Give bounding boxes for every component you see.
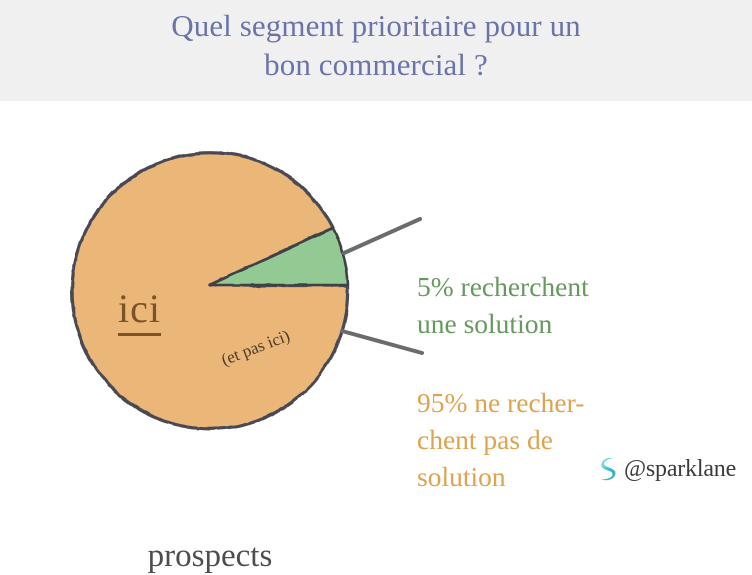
header-band: Quel segment prioritaire pour un bon com… (0, 0, 752, 101)
leader-line-orange (342, 331, 422, 353)
footer-branding: @sparklane (597, 456, 736, 482)
leader-line-green (344, 219, 420, 253)
page-title: Quel segment prioritaire pour un bon com… (0, 6, 752, 84)
sparklane-handle: @sparklane (624, 456, 736, 482)
pie-caption-prospects: prospects (0, 537, 420, 575)
pie-chart (30, 101, 430, 461)
callout-label-green-5pct: 5% recherchent une solution (417, 268, 717, 342)
slide-canvas: Quel segment prioritaire pour un bon com… (0, 0, 752, 501)
annotation-ici: ici (118, 287, 161, 336)
chart-area: ici (et pas ici) prospects 5% recherchen… (0, 101, 752, 501)
pie-slice-orange (72, 153, 348, 429)
sparklane-spark-icon (597, 456, 617, 482)
